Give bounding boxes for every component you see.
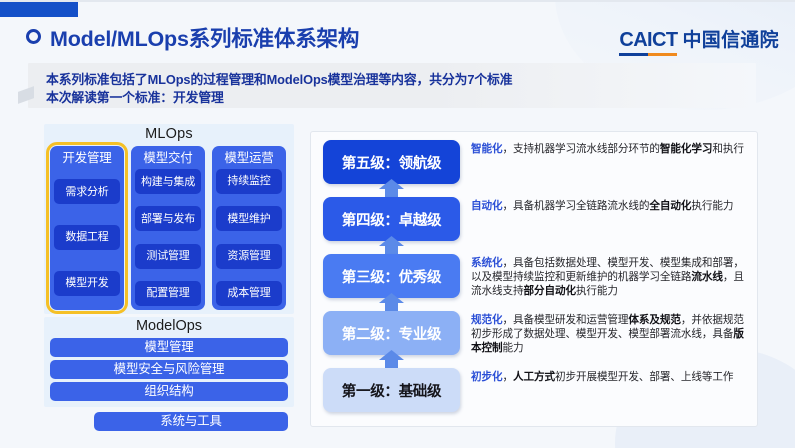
mlops-column-2[interactable]: 模型交付构建与集成部署与发布测试管理配置管理 (131, 146, 205, 310)
maturity-levels-panel: 第五级：领航级智能化，支持机器学习流水线部分环节的智能化学习和执行第四级：卓越级… (310, 131, 758, 427)
subtitle-line-1: 本系列标准包括了MLOps的过程管理和ModelOps模型治理等内容，共分为7个… (46, 69, 512, 88)
modelops-label: ModelOps (44, 318, 294, 334)
top-strip (0, 0, 795, 2)
maturity-level-row: 第一级：基础级初步化，人工方式初步开展模型开发、部署、上线等工作 (311, 368, 759, 420)
mlops-item[interactable]: 资源管理 (216, 244, 282, 269)
arrow-up-icon (378, 350, 405, 370)
maturity-levels-list: 第五级：领航级智能化，支持机器学习流水线部分环节的智能化学习和执行第四级：卓越级… (311, 132, 759, 428)
mlops-column-head: 开发管理 (54, 149, 120, 167)
maturity-level-chip[interactable]: 第四级：卓越级 (323, 197, 460, 241)
mlops-item[interactable]: 构建与集成 (135, 169, 201, 194)
tools-bar[interactable]: 系统与工具 (94, 412, 288, 431)
mlops-item[interactable]: 配置管理 (135, 281, 201, 306)
mlops-item[interactable]: 部署与发布 (135, 206, 201, 231)
logo-underline-blue (619, 53, 648, 56)
ring-icon (26, 29, 41, 44)
maturity-level-description: 规范化，具备模型研发和运营管理体系及规范，并依据规范初步形成了数据处理、模型开发… (471, 314, 745, 355)
mlops-item[interactable]: 成本管理 (216, 281, 282, 306)
page-title: Model/MLOps系列标准体系架构 (50, 22, 359, 53)
mlops-item[interactable]: 持续监控 (216, 169, 282, 194)
modelops-bar[interactable]: 模型管理 (50, 338, 288, 357)
logo-mark: CAICT (619, 29, 677, 56)
arrow-up-icon (378, 236, 405, 256)
mlops-column-head: 模型交付 (135, 149, 201, 167)
mlops-column-3[interactable]: 模型运营持续监控模型维护资源管理成本管理 (212, 146, 286, 310)
maturity-level-chip[interactable]: 第三级：优秀级 (323, 254, 460, 298)
maturity-level-chip[interactable]: 第二级：专业级 (323, 311, 460, 355)
mlops-label: MLOps (44, 126, 294, 142)
mlops-item[interactable]: 数据工程 (54, 225, 120, 250)
modelops-container: ModelOps 模型管理模型安全与风险管理组织结构 (44, 317, 294, 407)
modelops-bar[interactable]: 组织结构 (50, 382, 288, 401)
mlops-item[interactable]: 测试管理 (135, 244, 201, 269)
maturity-level-chip[interactable]: 第五级：领航级 (323, 140, 460, 184)
header: Model/MLOps系列标准体系架构 CAICT 中国信通院 (0, 20, 795, 54)
mlops-architecture-panel: MLOps 开发管理需求分析数据工程模型开发模型交付构建与集成部署与发布测试管理… (44, 124, 294, 434)
logo-underline-orange (648, 53, 677, 56)
arrow-up-icon (378, 179, 405, 199)
mlops-item[interactable]: 需求分析 (54, 179, 120, 204)
mlops-column-head: 模型运营 (216, 149, 282, 167)
maturity-level-description: 系统化，具备包括数据处理、模型开发、模型集成和部署，以及模型持续监控和更新维护的… (471, 257, 745, 298)
mlops-item[interactable]: 模型维护 (216, 206, 282, 231)
subtitle-band: 本系列标准包括了MLOps的过程管理和ModelOps模型治理等内容，共分为7个… (28, 63, 756, 108)
slide-canvas: Model/MLOps系列标准体系架构 CAICT 中国信通院 本系列标准包括了… (0, 0, 795, 448)
mlops-column-items: 构建与集成部署与发布测试管理配置管理 (135, 169, 201, 306)
caict-logo: CAICT 中国信通院 (619, 25, 779, 56)
mlops-columns: 开发管理需求分析数据工程模型开发模型交付构建与集成部署与发布测试管理配置管理模型… (50, 146, 288, 310)
mlops-column-items: 持续监控模型维护资源管理成本管理 (216, 169, 282, 306)
maturity-level-chip[interactable]: 第一级：基础级 (323, 368, 460, 412)
subtitle-line-2: 本次解读第一个标准：开发管理 (46, 87, 224, 106)
logo-mark-text: CAICT (619, 29, 677, 51)
arrow-up-icon (378, 293, 405, 313)
modelops-bars: 模型管理模型安全与风险管理组织结构 (50, 338, 288, 401)
maturity-level-description: 自动化，具备机器学习全链路流水线的全自动化执行能力 (471, 200, 745, 214)
logo-cn-text: 中国信通院 (682, 25, 779, 52)
maturity-level-description: 初步化，人工方式初步开展模型开发、部署、上线等工作 (471, 371, 745, 385)
mlops-column-items: 需求分析数据工程模型开发 (54, 169, 120, 306)
accent-bar (0, 2, 78, 17)
modelops-bar[interactable]: 模型安全与风险管理 (50, 360, 288, 379)
mlops-item[interactable]: 模型开发 (54, 271, 120, 296)
mlops-container: MLOps 开发管理需求分析数据工程模型开发模型交付构建与集成部署与发布测试管理… (44, 124, 294, 314)
mlops-column-1[interactable]: 开发管理需求分析数据工程模型开发 (50, 146, 124, 310)
subtitle-shadow-tab (18, 86, 34, 104)
maturity-level-description: 智能化，支持机器学习流水线部分环节的智能化学习和执行 (471, 143, 745, 157)
